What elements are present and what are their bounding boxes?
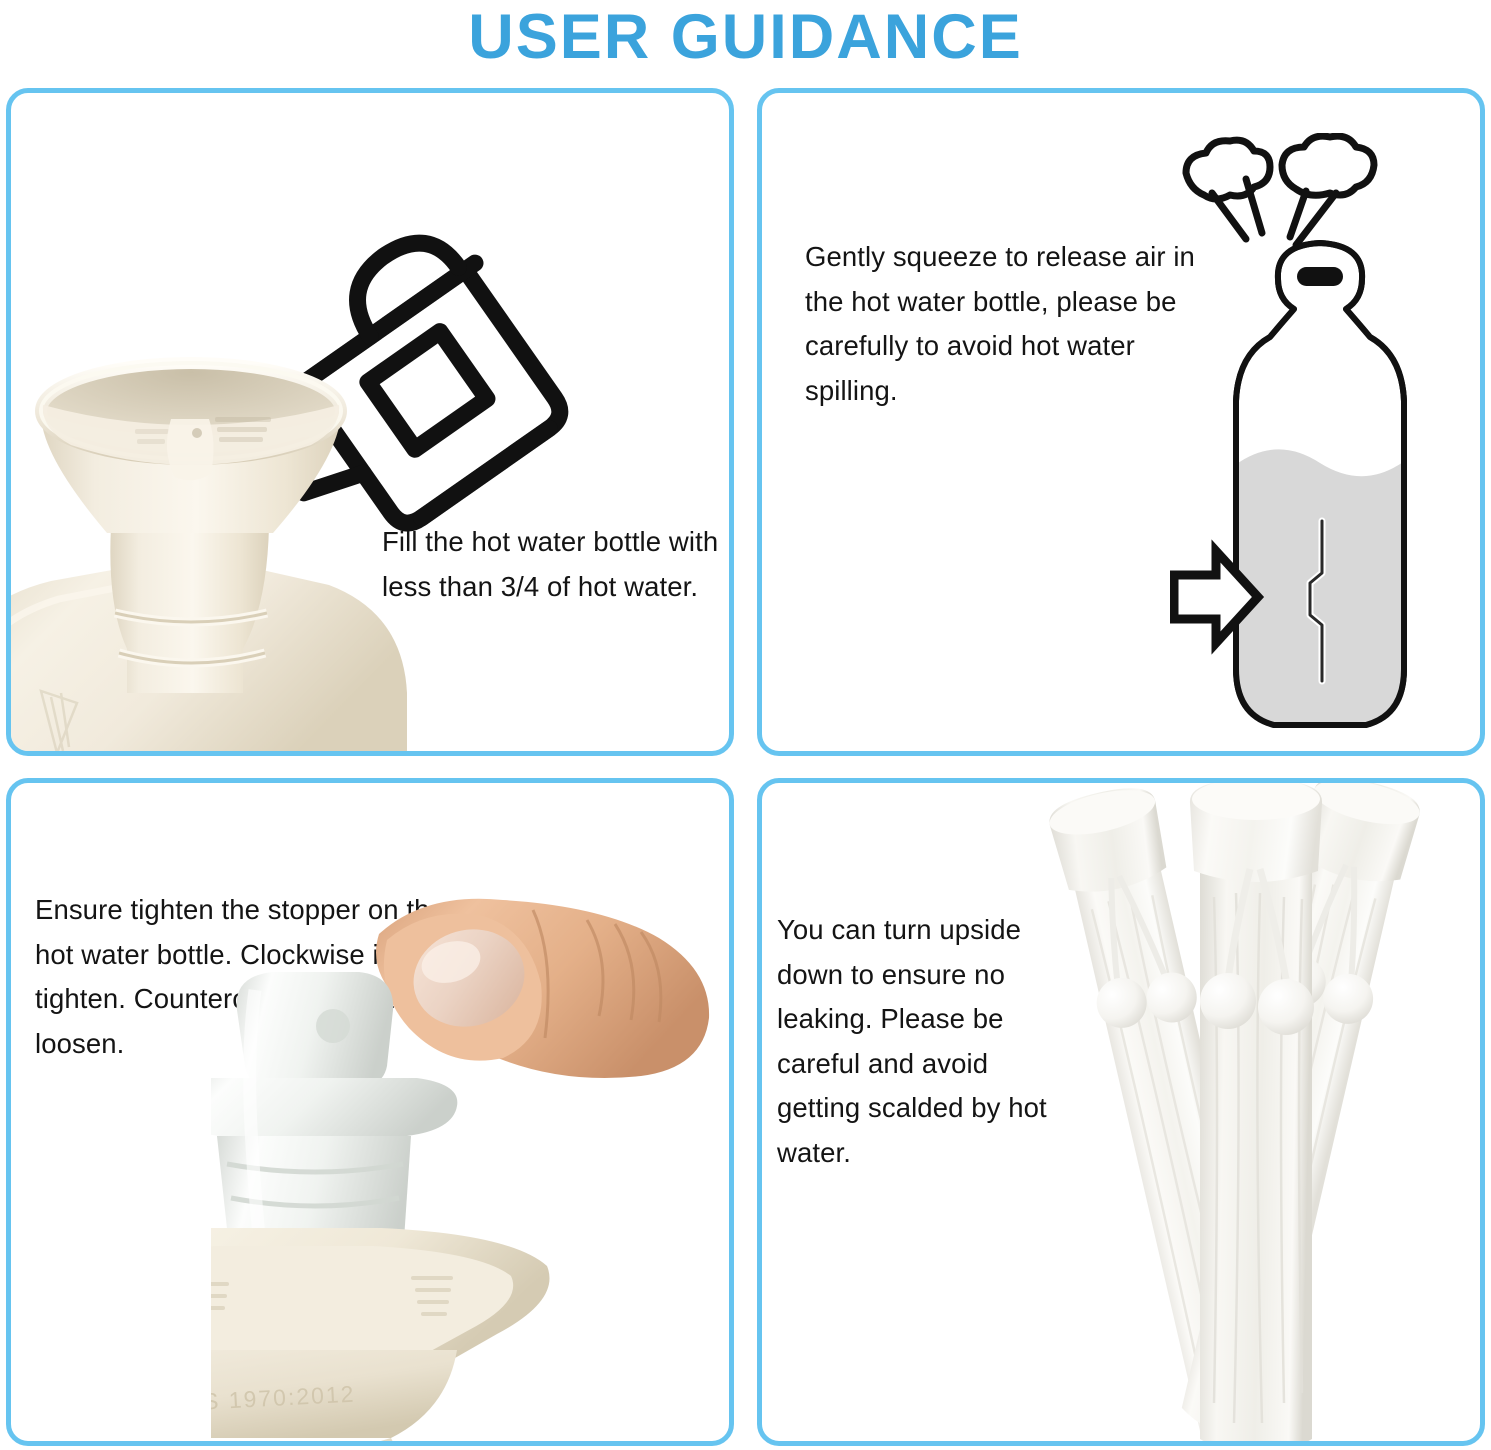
fluffy-cover-center	[1190, 778, 1322, 1443]
pom-pom	[1200, 973, 1256, 1029]
panel-2-caption: Gently squeeze to release air in the hot…	[805, 235, 1225, 413]
bottle-funnel-neck: BS 1970:2012	[211, 1228, 550, 1446]
air-puff-right-icon	[1282, 136, 1374, 195]
illustration-hand-stopper: BS 1970:2012	[211, 898, 731, 1446]
guidance-panel-grid: Fill the hot water bottle with less than…	[6, 88, 1485, 1440]
pom-pom	[1258, 979, 1314, 1035]
squeeze-bottle-svg	[1170, 133, 1470, 753]
illustration-kettle-pouring	[11, 93, 729, 751]
illustration-fluffy-covers	[1012, 778, 1485, 1443]
guidance-panel-1: Fill the hot water bottle with less than…	[6, 88, 734, 756]
guidance-panel-2: Gently squeeze to release air in the hot…	[757, 88, 1485, 756]
hot-water-bottle	[11, 363, 407, 751]
hand-stopper-svg: BS 1970:2012	[211, 898, 731, 1446]
hand-thumb-and-finger	[376, 899, 709, 1078]
kettle-and-bottle-svg	[11, 93, 729, 751]
air-puff-left-icon	[1186, 140, 1270, 199]
guidance-panel-4: You can turn upside down to ensure no le…	[757, 778, 1485, 1446]
panel-1-caption: Fill the hot water bottle with less than…	[382, 520, 722, 609]
guidance-panel-3: Ensure tighten the stopper on the hot wa…	[6, 778, 734, 1446]
page-title: USER GUIDANCE	[0, 4, 1491, 70]
fluffy-covers-svg	[1012, 778, 1485, 1443]
user-guidance-page: USER GUIDANCE	[0, 0, 1491, 1450]
bottle-neck-slot	[1297, 267, 1343, 286]
illustration-squeeze-bottle	[1170, 133, 1470, 753]
stopper-vent-hole	[316, 1009, 350, 1043]
